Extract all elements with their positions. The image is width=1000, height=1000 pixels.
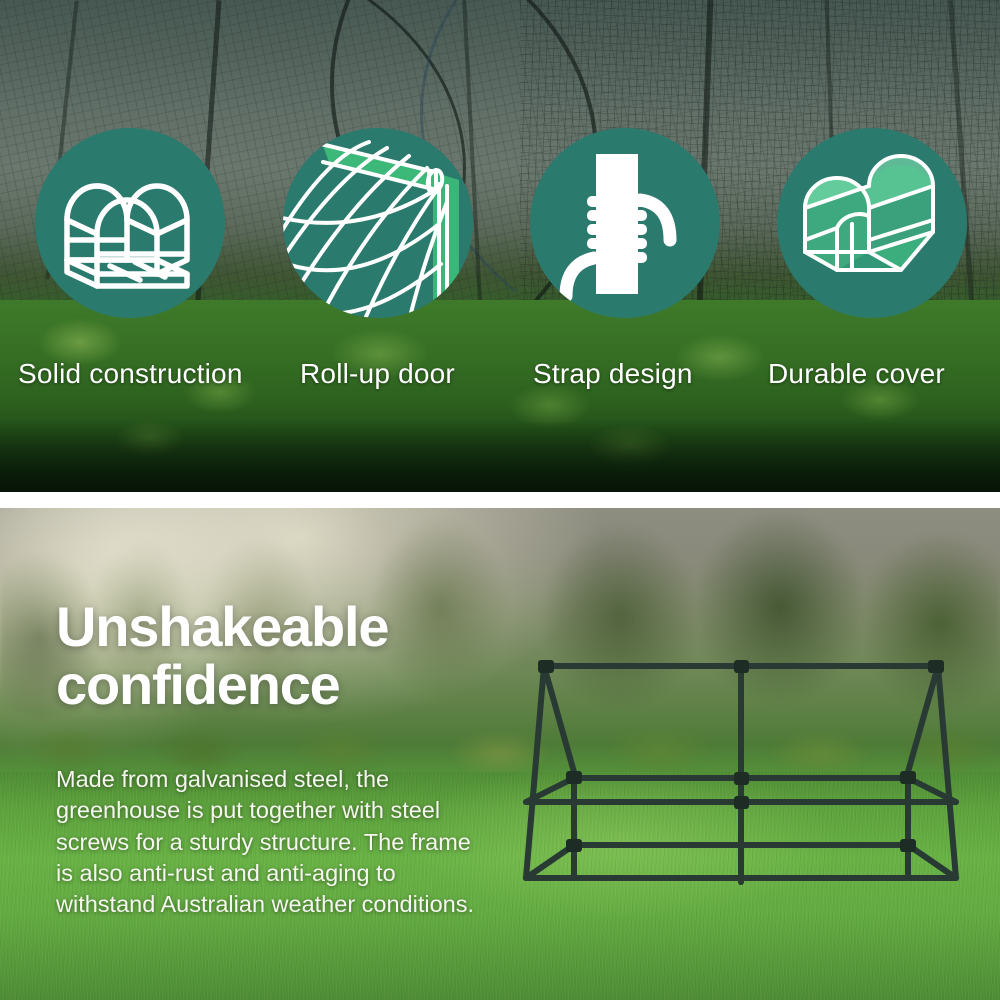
page-headline: Unshakeable confidence	[56, 598, 526, 714]
roll-up-door-icon	[283, 128, 473, 318]
strap-design-icon	[530, 128, 720, 318]
headline-line-1: Unshakeable	[56, 598, 526, 656]
panel-divider	[0, 492, 1000, 508]
feature-label-solid-construction: Solid construction	[18, 358, 243, 390]
galvanised-steel-frame-icon	[496, 630, 966, 920]
feature-circle-roll-up-door[interactable]	[283, 128, 473, 318]
foliage-shadow	[0, 420, 1000, 492]
product-feature-page: Solid construction Roll-up door Strap de…	[0, 0, 1000, 1000]
page-body-copy: Made from galvanised steel, the greenhou…	[56, 764, 476, 920]
headline-line-2: confidence	[56, 656, 526, 714]
feature-circle-solid-construction[interactable]	[35, 128, 225, 318]
feature-circle-durable-cover[interactable]	[777, 128, 967, 318]
feature-label-roll-up-door: Roll-up door	[300, 358, 455, 390]
greenhouse-frame-icon	[35, 128, 225, 318]
product-image-greenhouse-frame	[496, 630, 966, 920]
feature-label-strap-design: Strap design	[533, 358, 693, 390]
feature-labels: Solid construction Roll-up door Strap de…	[0, 358, 1000, 404]
feature-label-durable-cover: Durable cover	[768, 358, 945, 390]
durable-cover-icon	[777, 128, 967, 318]
feature-icons-banner: Solid construction Roll-up door Strap de…	[0, 0, 1000, 492]
feature-circle-strap-design[interactable]	[530, 128, 720, 318]
